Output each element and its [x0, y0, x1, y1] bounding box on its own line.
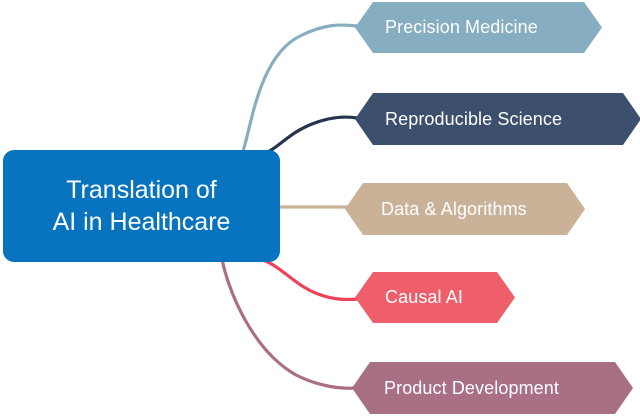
root-node-label: Translation of AI in Healthcare [53, 174, 231, 238]
branch-node-product-development[interactable]: Product Development [352, 362, 633, 414]
root-node[interactable]: Translation of AI in Healthcare [3, 150, 280, 262]
branch-label-data-and-algorithms: Data & Algorithms [345, 183, 621, 235]
mindmap-canvas: Translation of AI in Healthcare Precisio… [0, 0, 640, 417]
branch-node-causal-ai[interactable]: Causal AI [355, 272, 515, 323]
branch-label-causal-ai: Causal AI [355, 272, 545, 323]
branch-label-product-development: Product Development [352, 362, 640, 414]
branch-label-reproducible-science: Reproducible Science [355, 93, 640, 145]
branch-node-data-and-algorithms[interactable]: Data & Algorithms [345, 183, 585, 235]
branch-node-reproducible-science[interactable]: Reproducible Science [355, 93, 640, 145]
branch-node-precision-medicine[interactable]: Precision Medicine [355, 2, 602, 53]
node-layer: Translation of AI in Healthcare Precisio… [0, 0, 640, 417]
branch-label-precision-medicine: Precision Medicine [355, 2, 632, 53]
